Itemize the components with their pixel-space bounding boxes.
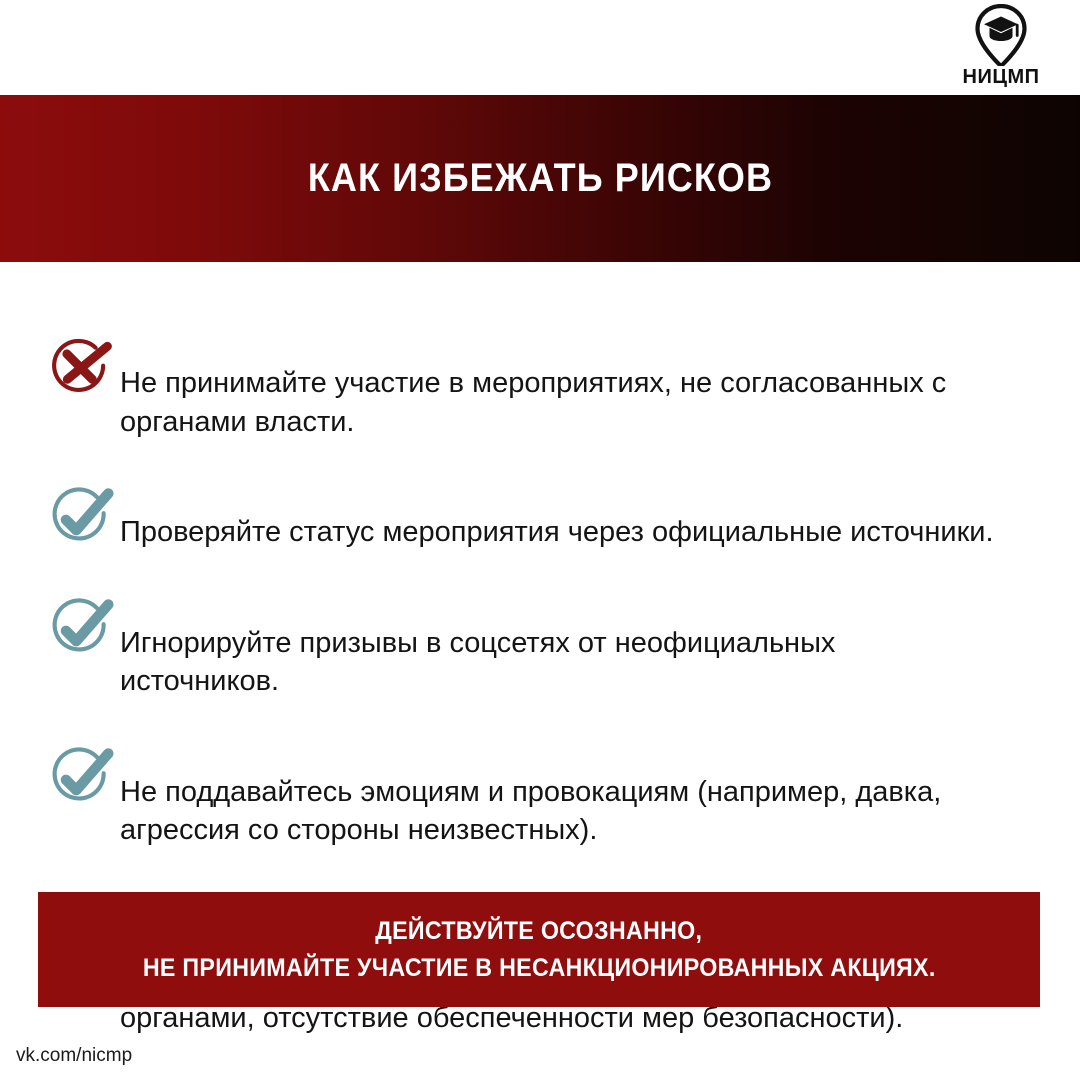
brand-logo: НИЦМП	[936, 4, 1066, 92]
page-title: КАК ИЗБЕЖАТЬ РИСКОВ	[307, 156, 772, 201]
list-item: Игнорируйте призывы в соцсетях от неофиц…	[48, 593, 1038, 730]
circle-check-icon	[48, 744, 120, 810]
list-item: Не принимайте участие в мероприятиях, не…	[48, 333, 1038, 470]
circle-cross-icon	[48, 335, 120, 401]
map-pin-graduation-cap-icon	[973, 4, 1029, 66]
list-item: Проверяйте статус мероприятия через офиц…	[48, 482, 1038, 581]
cta-line-2: НЕ ПРИНИМАЙТЕ УЧАСТИЕ В НЕСАНКЦИОНИРОВАН…	[143, 950, 936, 986]
list-item-text: Не поддавайтесь эмоциям и провокациям (н…	[120, 771, 1000, 850]
header-banner: КАК ИЗБЕЖАТЬ РИСКОВ	[0, 95, 1080, 262]
circle-check-icon	[48, 484, 120, 550]
brand-logo-text: НИЦМП	[963, 67, 1040, 87]
poster-canvas: НИЦМП КАК ИЗБЕЖАТЬ РИСКОВ Не принимайте …	[0, 0, 1080, 1080]
call-to-action-banner: ДЕЙСТВУЙТЕ ОСОЗНАННО, НЕ ПРИНИМАЙТЕ УЧАС…	[38, 892, 1040, 1007]
list-item-text: Не принимайте участие в мероприятиях, не…	[120, 362, 1000, 441]
cta-line-1: ДЕЙСТВУЙТЕ ОСОЗНАННО,	[376, 913, 703, 949]
list-item-text: Игнорируйте призывы в соцсетях от неофиц…	[120, 622, 1000, 701]
list-item-text: Проверяйте статус мероприятия через офиц…	[120, 511, 1000, 552]
list-item: Не поддавайтесь эмоциям и провокациям (н…	[48, 742, 1038, 879]
circle-check-icon	[48, 595, 120, 661]
footer-link[interactable]: vk.com/nicmp	[16, 1045, 132, 1067]
